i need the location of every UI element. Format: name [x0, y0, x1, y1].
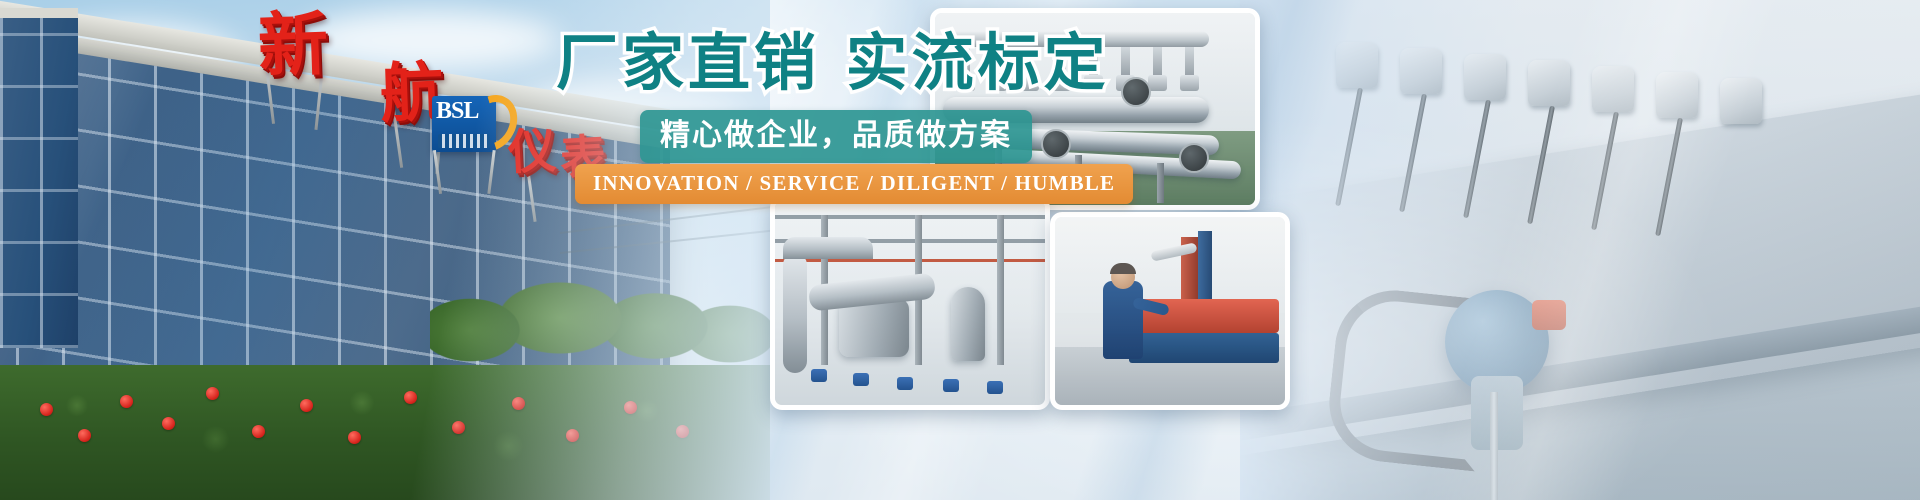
tagline-bar: INNOVATION / SERVICE / DILIGENT / HUMBLE	[575, 164, 1133, 204]
banner-headline: 厂家直销 实流标定	[556, 30, 1110, 95]
cnc-operator-photo-card	[1050, 212, 1290, 410]
plant-room-photo-card	[770, 196, 1050, 410]
plant-card-gloss	[775, 201, 1045, 405]
banner-tagline: INNOVATION / SERVICE / DILIGENT / HUMBLE	[593, 171, 1115, 196]
subtitle-bar: 精心做企业，品质做方案	[640, 110, 1032, 163]
banner-subtitle: 精心做企业，品质做方案	[660, 119, 1012, 152]
worker-card-gloss	[1055, 217, 1285, 405]
company-promo-banner: 新 航 仪 表 BSL	[0, 0, 1920, 500]
